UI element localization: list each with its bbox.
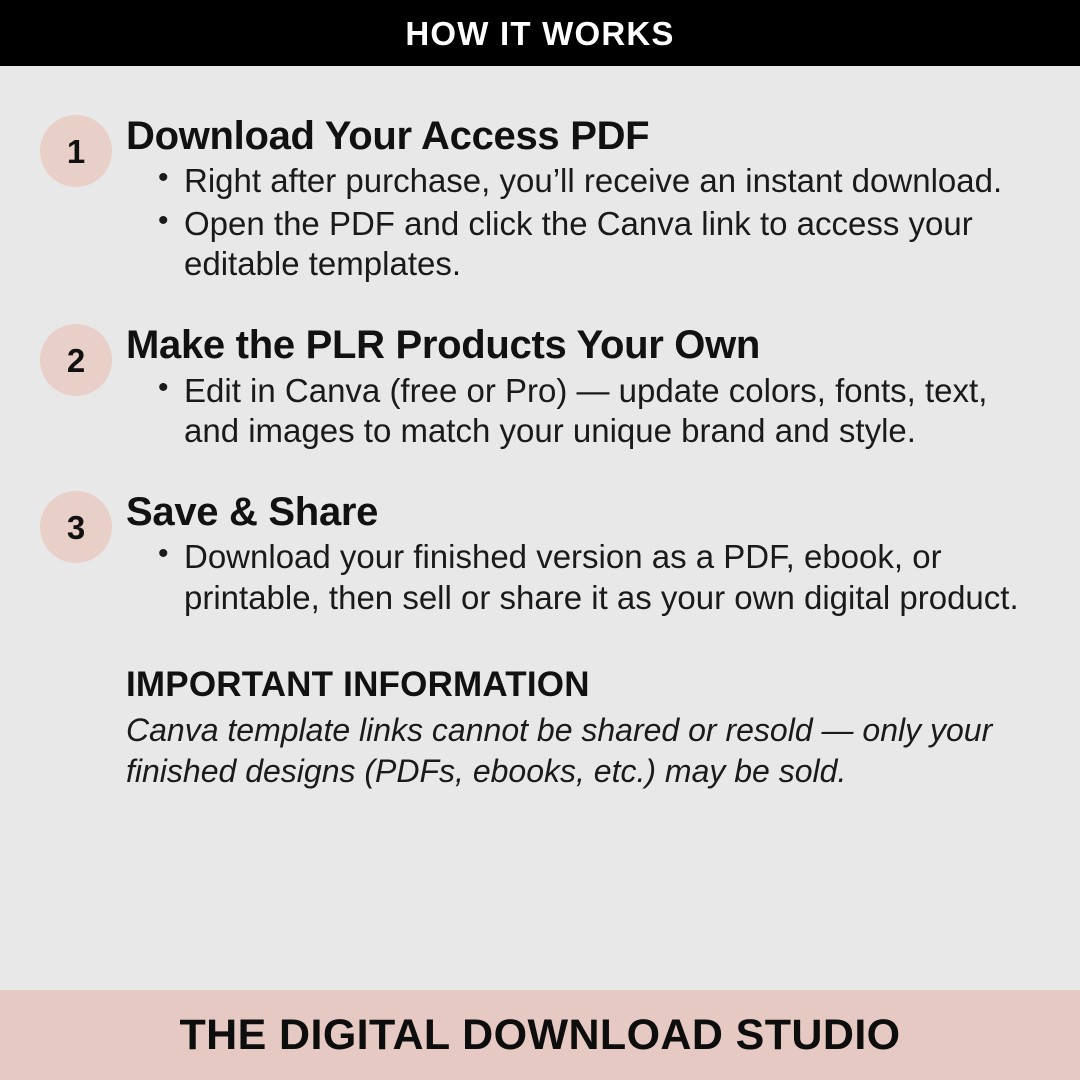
- step-title: Download Your Access PDF: [126, 115, 1046, 157]
- how-it-works-poster: HOW IT WORKS 1 Download Your Access PDF …: [0, 0, 1080, 1080]
- page-title: HOW IT WORKS: [405, 17, 674, 50]
- step-body: Make the PLR Products Your Own Edit in C…: [126, 324, 1080, 453]
- step-item: 3 Save & Share Download your finished ve…: [0, 491, 1080, 620]
- step-bullet-list: Edit in Canva (free or Pro) — update col…: [126, 371, 1046, 452]
- step-item: 1 Download Your Access PDF Right after p…: [0, 115, 1080, 286]
- important-information-note: Canva template links cannot be shared or…: [126, 710, 1044, 791]
- step-title: Make the PLR Products Your Own: [126, 324, 1046, 366]
- step-bullet-list: Download your finished version as a PDF,…: [126, 537, 1046, 618]
- step-bullet: Right after purchase, you’ll receive an …: [158, 161, 1046, 201]
- important-information-block: IMPORTANT INFORMATION Canva template lin…: [126, 666, 1044, 792]
- content-area: 1 Download Your Access PDF Right after p…: [0, 66, 1080, 1080]
- step-number-badge: 1: [40, 115, 112, 187]
- step-number-label: 2: [67, 344, 85, 377]
- step-body: Save & Share Download your finished vers…: [126, 491, 1080, 620]
- step-number-label: 1: [67, 135, 85, 168]
- step-number-badge: 3: [40, 491, 112, 563]
- step-bullet: Open the PDF and click the Canva link to…: [158, 204, 1046, 285]
- step-bullet-list: Right after purchase, you’ll receive an …: [126, 161, 1046, 284]
- step-bullet: Download your finished version as a PDF,…: [158, 537, 1046, 618]
- step-body: Download Your Access PDF Right after pur…: [126, 115, 1080, 286]
- step-number-badge: 2: [40, 324, 112, 396]
- header-band: HOW IT WORKS: [0, 0, 1080, 66]
- important-information-title: IMPORTANT INFORMATION: [126, 666, 1044, 705]
- steps-list: 1 Download Your Access PDF Right after p…: [0, 115, 1080, 620]
- brand-name: THE DIGITAL DOWNLOAD STUDIO: [179, 1014, 900, 1057]
- step-item: 2 Make the PLR Products Your Own Edit in…: [0, 324, 1080, 453]
- step-title: Save & Share: [126, 491, 1046, 533]
- footer-band: THE DIGITAL DOWNLOAD STUDIO: [0, 990, 1080, 1080]
- step-bullet: Edit in Canva (free or Pro) — update col…: [158, 371, 1046, 452]
- step-number-label: 3: [67, 511, 85, 544]
